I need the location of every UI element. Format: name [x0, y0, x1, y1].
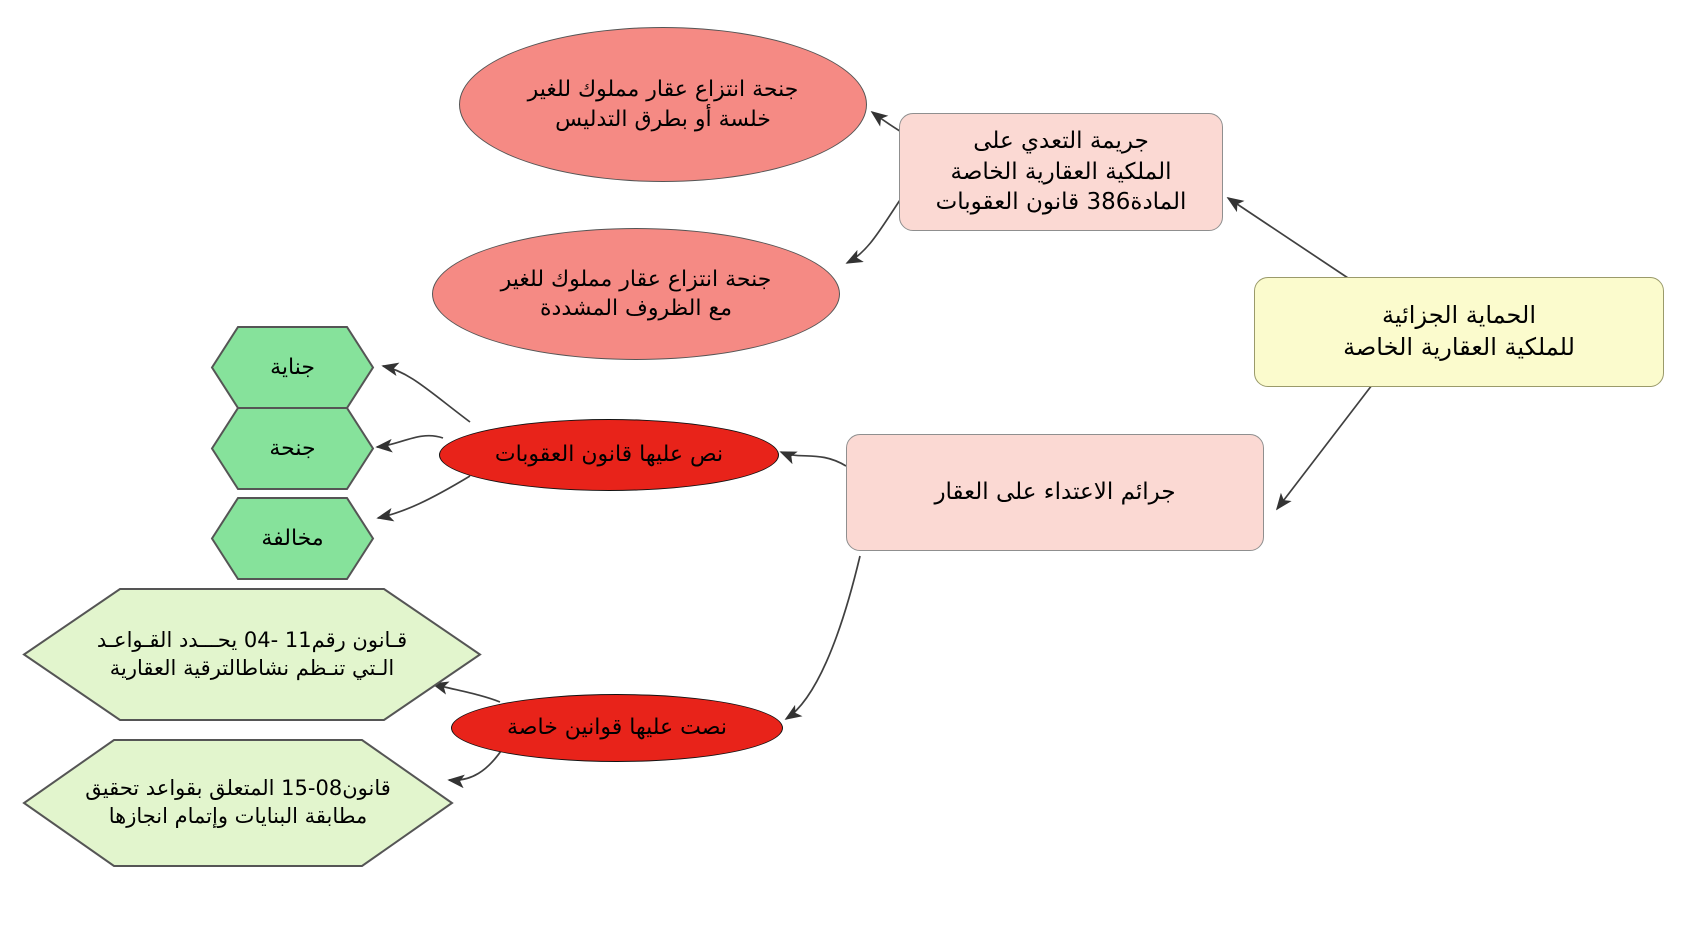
node-contravention[interactable]: مخالفة — [210, 496, 375, 581]
node-misdemeanor-stealth-label: جنحة انتزاع عقار مملوك للغير خلسة أو بطر… — [528, 75, 799, 133]
node-law-11-04-label: قـانون رقم11 -04 يحـــدد القـواعـد الـتي… — [83, 627, 421, 682]
node-penal-code-provided-label: نص عليها قانون العقوبات — [495, 440, 723, 469]
node-felony-label: جناية — [256, 353, 329, 382]
node-property-assault-crimes-label: جرائم الاعتداء على العقار — [934, 477, 1175, 507]
mindmap-canvas: الحماية الجزائية للملكية العقارية الخاصة… — [0, 0, 1683, 944]
node-law-08-15[interactable]: قانون08-15 المتعلق بقواعد تحقيق مطابقة ا… — [22, 738, 454, 868]
node-misdemeanor[interactable]: جنحة — [210, 406, 375, 491]
node-misdemeanor-aggravated[interactable]: جنحة انتزاع عقار مملوك للغير مع الظروف ا… — [432, 228, 840, 360]
node-special-laws-provided[interactable]: نصت عليها قوانين خاصة — [451, 694, 783, 762]
node-misdemeanor-aggravated-label: جنحة انتزاع عقار مملوك للغير مع الظروف ا… — [501, 265, 772, 323]
edge-root-to-assault-crimes — [1277, 385, 1372, 509]
node-misdemeanor-label: جنحة — [255, 434, 329, 463]
node-crime-article-386[interactable]: جريمة التعدي على الملكية العقارية الخاصة… — [899, 113, 1223, 231]
edge-crime386-to-aggravated — [847, 200, 900, 263]
node-contravention-label: مخالفة — [247, 524, 337, 553]
node-law-08-15-label: قانون08-15 المتعلق بقواعد تحقيق مطابقة ا… — [71, 775, 405, 830]
node-root-label: الحماية الجزائية للملكية العقارية الخاصة — [1343, 300, 1575, 363]
node-law-11-04[interactable]: قـانون رقم11 -04 يحـــدد القـواعـد الـتي… — [22, 587, 482, 722]
node-crime-article-386-label: جريمة التعدي على الملكية العقارية الخاصة… — [936, 126, 1187, 217]
edge-penalcode-to-contravention — [378, 476, 470, 518]
node-misdemeanor-stealth[interactable]: جنحة انتزاع عقار مملوك للغير خلسة أو بطر… — [459, 27, 867, 182]
node-property-assault-crimes[interactable]: جرائم الاعتداء على العقار — [846, 434, 1264, 551]
edge-penalcode-to-misdemeanor — [377, 436, 443, 447]
edge-root-to-crime386 — [1228, 198, 1351, 280]
node-special-laws-provided-label: نصت عليها قوانين خاصة — [507, 713, 727, 742]
edge-penalcode-to-felony — [383, 366, 470, 422]
node-root[interactable]: الحماية الجزائية للملكية العقارية الخاصة — [1254, 277, 1664, 387]
edge-assault-to-penalcode — [781, 452, 846, 466]
edge-assault-to-speciallaws — [786, 556, 860, 719]
node-felony[interactable]: جناية — [210, 325, 375, 410]
node-penal-code-provided[interactable]: نص عليها قانون العقوبات — [439, 419, 779, 491]
